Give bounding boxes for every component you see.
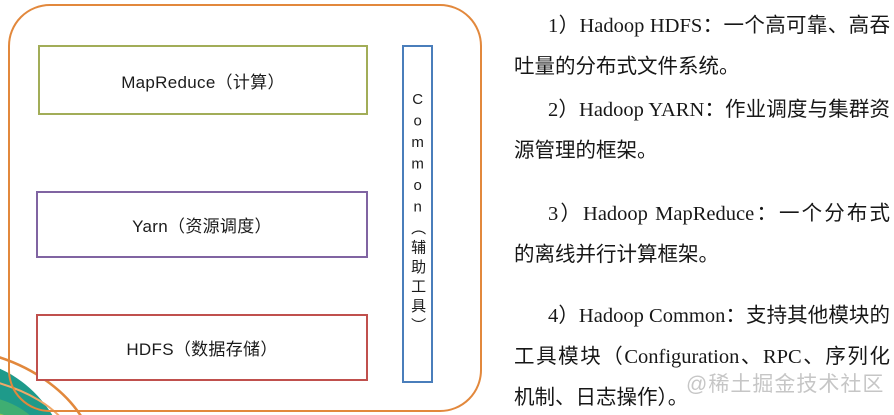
layer-label-yarn: Yarn（资源调度）	[132, 212, 272, 237]
layer-box-yarn[interactable]: Yarn（资源调度）	[36, 191, 368, 258]
layer-box-hdfs[interactable]: HDFS（数据存储）	[36, 314, 368, 381]
layer-label-hdfs: HDFS（数据存储）	[126, 335, 277, 360]
hadoop-architecture-diagram: MapReduce（计算） Yarn（资源调度） HDFS（数据存储） Comm…	[0, 0, 500, 415]
slide-canvas: MapReduce（计算） Yarn（资源调度） HDFS（数据存储） Comm…	[0, 0, 894, 415]
description-paragraph-3: 3）Hadoop MapReduce：一个分布式的离线并行计算框架。	[514, 194, 890, 276]
description-paragraph-2: 2）Hadoop YARN：作业调度与集群资源管理的框架。	[514, 90, 890, 172]
layer-box-common[interactable]: Common（辅助工具）	[402, 45, 433, 383]
layer-box-mapreduce[interactable]: MapReduce（计算）	[38, 45, 368, 115]
layer-label-common: Common（辅助工具）	[410, 49, 425, 379]
layer-label-mapreduce: MapReduce（计算）	[121, 68, 285, 93]
description-paragraph-4: 4）Hadoop Common：支持其他模块的工具模块（Configuratio…	[514, 296, 890, 415]
description-paragraph-1: 1）Hadoop HDFS：一个高可靠、高吞吐量的分布式文件系统。	[514, 6, 890, 88]
description-text-panel: 1）Hadoop HDFS：一个高可靠、高吞吐量的分布式文件系统。 2）Hado…	[500, 0, 894, 415]
